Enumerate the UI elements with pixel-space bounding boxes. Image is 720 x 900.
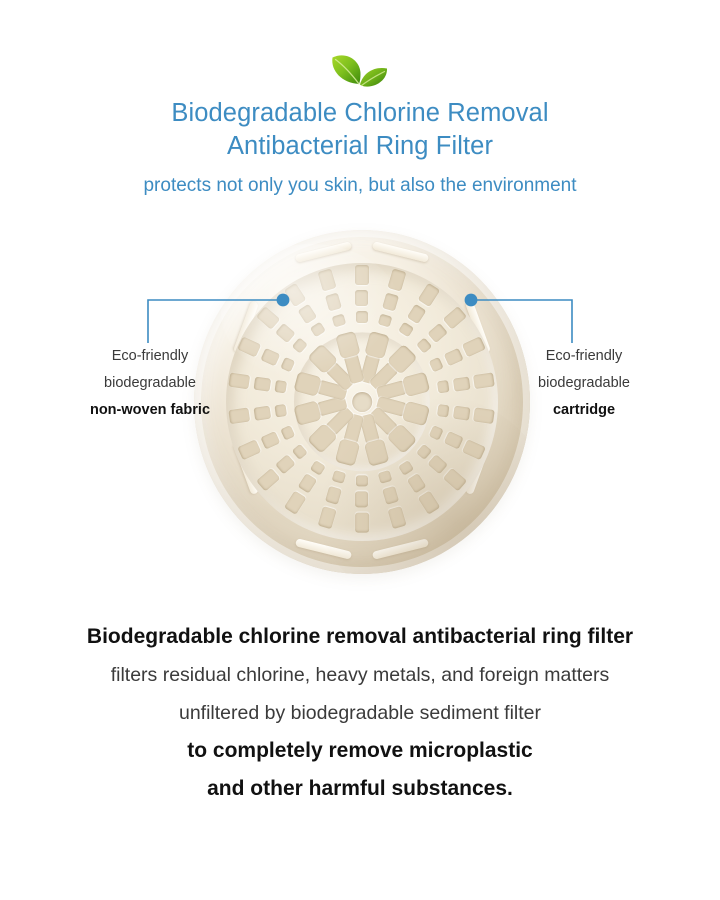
body-line-4: to completely remove microplastic — [0, 732, 720, 770]
callout-right: Eco-friendly biodegradable cartridge — [496, 343, 672, 424]
title-line-1: Biodegradable Chlorine Removal — [0, 97, 720, 130]
body-copy: Biodegradable chlorine removal antibacte… — [0, 618, 720, 808]
callout-left: Eco-friendly biodegradable non-woven fab… — [62, 343, 238, 424]
page-subtitle: protects not only you skin, but also the… — [0, 173, 720, 199]
title-line-2: Antibacterial Ring Filter — [0, 130, 720, 163]
product-figure: Eco-friendly biodegradable non-woven fab… — [0, 215, 720, 610]
callout-right-line-1: Eco-friendly — [496, 343, 672, 370]
callout-left-line-3: non-woven fabric — [62, 397, 238, 424]
callout-marker-left — [277, 294, 290, 307]
body-line-1: Biodegradable chlorine removal antibacte… — [0, 618, 720, 656]
page-title: Biodegradable Chlorine Removal Antibacte… — [0, 97, 720, 163]
body-line-2: filters residual chlorine, heavy metals,… — [0, 656, 720, 694]
callout-right-line-2: biodegradable — [496, 370, 672, 397]
leaf-icon — [0, 46, 720, 92]
body-line-3: unfiltered by biodegradable sediment fil… — [0, 694, 720, 732]
body-line-5: and other harmful substances. — [0, 770, 720, 808]
callout-left-line-2: biodegradable — [62, 370, 238, 397]
product-info-page: Biodegradable Chlorine Removal Antibacte… — [0, 0, 720, 900]
callout-marker-right — [465, 294, 478, 307]
callout-left-line-1: Eco-friendly — [62, 343, 238, 370]
callout-right-line-3: cartridge — [496, 397, 672, 424]
